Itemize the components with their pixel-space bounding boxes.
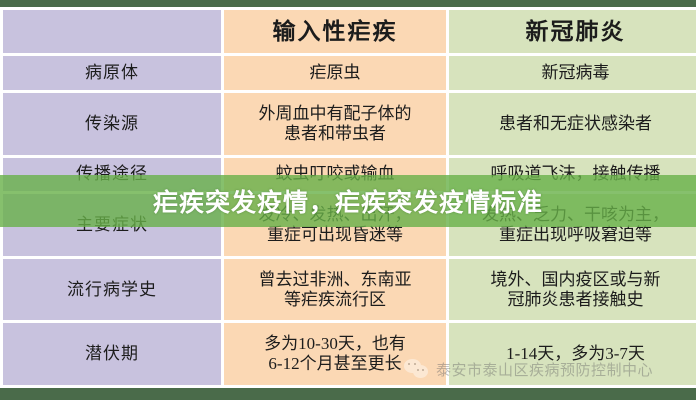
cell-line: 新冠病毒	[453, 63, 696, 83]
cell-line: 1-14天，多为3-7天	[453, 344, 696, 364]
row-malaria-cell: 外周血中有配子体的 患者和带虫者	[224, 93, 446, 155]
cell-line: 外周血中有配子体的	[228, 104, 442, 124]
row-label-cell: 病原体	[3, 56, 221, 90]
table-row: 流行病学史 曾去过非洲、东南亚 等疟疾流行区 境外、国内疫区或与新 冠肺炎患者接…	[3, 259, 696, 321]
cell-line: 境外、国内疫区或与新	[453, 270, 696, 290]
cell-line: 疟原虫	[228, 63, 442, 83]
row-malaria-cell: 疟原虫	[224, 56, 446, 90]
row-malaria-cell: 曾去过非洲、东南亚 等疟疾流行区	[224, 259, 446, 321]
cell-line: 冠肺炎患者接触史	[453, 290, 696, 310]
cell-line: 曾去过非洲、东南亚	[228, 270, 442, 290]
bottom-frame-strip	[0, 388, 696, 400]
row-covid-cell: 新冠病毒	[449, 56, 696, 90]
cell-line: 等疟疾流行区	[228, 290, 442, 310]
row-label-cell: 传染源	[3, 93, 221, 155]
table-header-row: 输入性疟疾 新冠肺炎	[3, 10, 696, 53]
cell-line: 重症出现呼吸窘迫等	[453, 225, 696, 245]
row-covid-cell: 患者和无症状感染者	[449, 93, 696, 155]
table-row: 潜伏期 多为10-30天，也有 6-12个月甚至更长 1-14天，多为3-7天	[3, 323, 696, 385]
row-covid-cell: 1-14天，多为3-7天	[449, 323, 696, 385]
row-malaria-cell: 多为10-30天，也有 6-12个月甚至更长	[224, 323, 446, 385]
cell-line: 6-12个月甚至更长	[228, 354, 442, 374]
top-frame-strip	[0, 0, 696, 7]
table-row: 病原体 疟原虫 新冠病毒	[3, 56, 696, 90]
table-row: 传染源 外周血中有配子体的 患者和带虫者 患者和无症状感染者	[3, 93, 696, 155]
cell-line: 患者和带虫者	[228, 124, 442, 144]
cell-line: 重症可出现昏迷等	[228, 225, 442, 245]
row-covid-cell: 境外、国内疫区或与新 冠肺炎患者接触史	[449, 259, 696, 321]
header-malaria-cell: 输入性疟疾	[224, 10, 446, 53]
overlay-banner-background	[0, 175, 696, 227]
screenshot-root: 输入性疟疾 新冠肺炎 病原体 疟原虫 新冠病毒 传染源 外周血中有配子体的	[0, 0, 696, 400]
row-label-cell: 潜伏期	[3, 323, 221, 385]
header-corner-cell	[3, 10, 221, 53]
header-covid-cell: 新冠肺炎	[449, 10, 696, 53]
row-label-cell: 流行病学史	[3, 259, 221, 321]
cell-line: 患者和无症状感染者	[453, 114, 696, 134]
cell-line: 多为10-30天，也有	[228, 334, 442, 354]
